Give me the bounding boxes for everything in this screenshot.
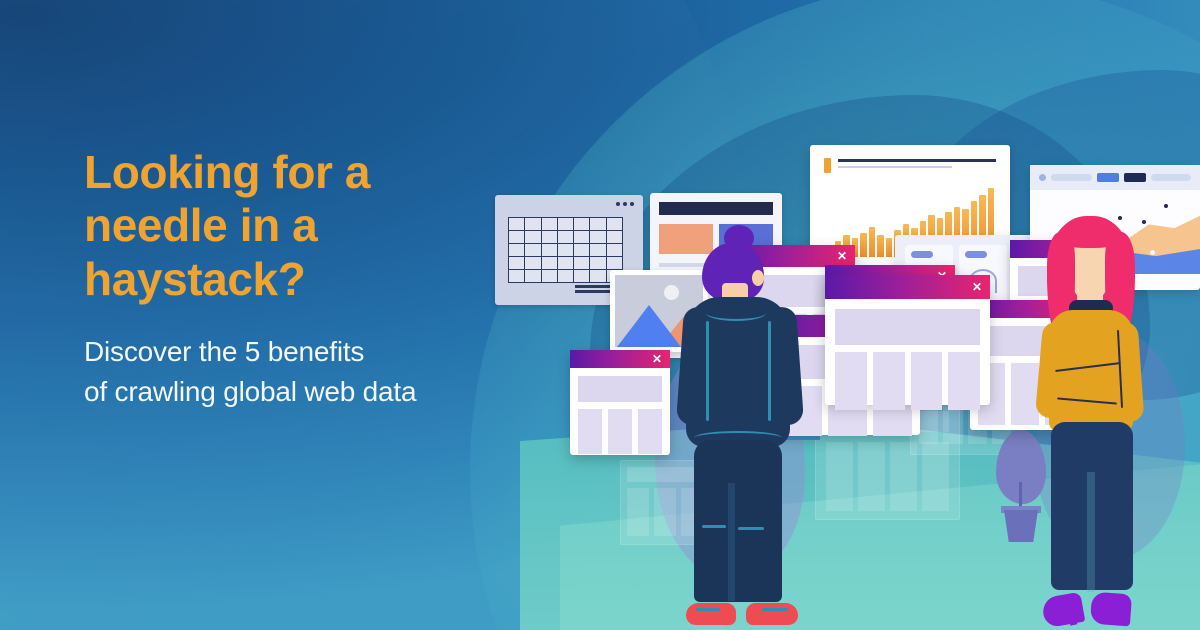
jeans-rip-left — [702, 525, 726, 528]
toolbar-dot-icon — [1039, 174, 1046, 181]
sweater-seam-right — [768, 321, 771, 421]
chart-icon — [824, 158, 831, 173]
webpage-header-bar — [659, 202, 773, 215]
leg-gap — [1087, 472, 1095, 592]
jeans-rip-right — [738, 527, 764, 530]
toolbar-field[interactable] — [1051, 174, 1092, 181]
sneaker-lace-right — [762, 608, 788, 611]
image-sun-icon — [664, 285, 679, 300]
spreadsheet-grid — [508, 217, 623, 283]
sneaker-left — [686, 603, 736, 625]
legs-jeans — [694, 440, 782, 602]
heel-shoe-right — [1090, 592, 1132, 627]
popup-body — [825, 299, 990, 420]
bar — [869, 227, 876, 257]
sneaker-right — [746, 603, 798, 625]
popup-window-large[interactable]: ✕ — [825, 275, 990, 405]
close-icon[interactable]: ✕ — [652, 353, 662, 365]
leg-gap — [728, 483, 735, 601]
person-front-view — [1025, 210, 1155, 625]
banner-canvas: Looking for a needle in a haystack? Disc… — [0, 0, 1200, 630]
toolbar-tab[interactable] — [1097, 173, 1119, 182]
collar-seam — [706, 305, 766, 321]
bar — [860, 233, 867, 257]
ear — [752, 270, 764, 286]
illustration: ✕ ✕ ✕ ✕ ✕ ✕ ✕ — [470, 60, 1200, 630]
popup-body — [570, 368, 670, 462]
area-chart-toolbar — [1030, 165, 1200, 190]
popup-header: ✕ — [825, 275, 990, 299]
image-mountain-front — [617, 305, 681, 347]
bar — [877, 235, 884, 257]
person-back-view — [680, 225, 800, 625]
toolbar-tab-active[interactable] — [1124, 173, 1146, 182]
chart-title-lines — [838, 159, 996, 173]
close-icon[interactable]: ✕ — [837, 250, 847, 262]
heel-shoe-left — [1041, 592, 1086, 628]
toolbar-field-2[interactable] — [1151, 174, 1192, 181]
popup-window-4[interactable]: ✕ — [570, 350, 670, 455]
bar-chart-header — [810, 145, 1010, 173]
close-icon[interactable]: ✕ — [972, 281, 982, 293]
sneaker-lace-left — [696, 608, 720, 611]
sweater-seam-left — [706, 321, 709, 421]
bar — [886, 238, 893, 257]
popup-header: ✕ — [570, 350, 670, 368]
window-dots-icon — [616, 202, 634, 206]
